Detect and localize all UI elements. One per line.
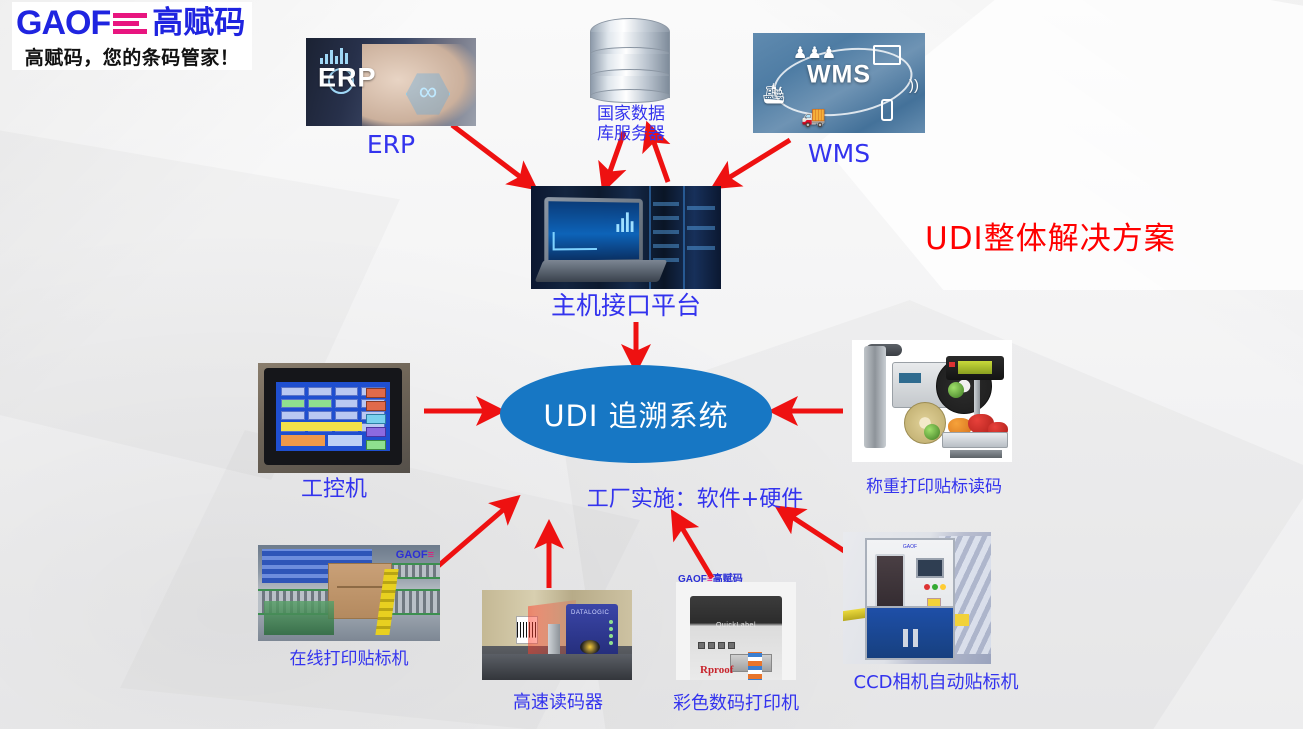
wms-phone-icon xyxy=(881,99,893,121)
weigh-knob-2 xyxy=(924,424,940,440)
printer-sub-brand: Rproof xyxy=(700,664,733,676)
company-logo: GAOF 高赋码 高赋码，您的条码管家！ xyxy=(12,2,252,70)
color-printer-image: QuickLabel Rproof xyxy=(676,582,796,680)
node-label-weigh-labeler: 称重打印贴标读码 xyxy=(838,478,1030,498)
factory-implementation-note: 工厂实施：软件+硬件 xyxy=(520,487,870,512)
hmi-side-buttons xyxy=(366,388,386,450)
weigh-scale-plate xyxy=(942,432,1008,448)
ccd-product-tag xyxy=(955,614,969,626)
weigh-scale-display xyxy=(946,356,1004,380)
color-printer-block: GAOF≡高赋码 QuickLabel Rproof xyxy=(676,570,796,680)
blade-row-3 xyxy=(653,230,679,234)
node-label-ccd-labeler: CCD相机自动贴标机 xyxy=(836,673,1036,694)
udi-trace-system-label: UDI 追溯系统 xyxy=(543,393,728,435)
hmi-info-strip xyxy=(328,435,362,446)
node-label-erp: ERP xyxy=(306,131,476,160)
server-rack-divider-2 xyxy=(683,186,685,289)
blade-row-2 xyxy=(653,216,679,220)
gaof-watermark: GAOF≡ xyxy=(396,549,434,561)
host-platform-image xyxy=(531,186,721,289)
slide-canvas: GAOF 高赋码 高赋码，您的条码管家！ UDI整体解决方案 xyxy=(0,0,1303,729)
barcode-reader-image: DATALOGIC xyxy=(482,590,632,680)
udi-trace-system-node[interactable]: UDI 追溯系统 xyxy=(500,365,772,463)
wms-image-caption: WMS xyxy=(753,61,925,90)
weigh-display-key xyxy=(949,362,955,367)
arrow-online-to-center xyxy=(437,504,510,567)
laptop-chart-bars xyxy=(616,210,633,232)
logo-wordmark: GAOF xyxy=(16,6,110,40)
barcode-icon xyxy=(113,13,147,34)
db-rim-3 xyxy=(590,89,670,103)
node-label-online-labeler: 在线打印贴标机 xyxy=(248,650,450,670)
erp-image: ERP xyxy=(306,38,476,126)
wms-image: ♟♟♟ 🛳 🚚 )) WMS xyxy=(753,33,925,133)
hmi-bezel xyxy=(264,368,402,465)
node-label-high-speed-reader: 高速读码器 xyxy=(478,693,638,714)
machine-housing xyxy=(264,601,334,635)
ccd-cabinet: GAOF xyxy=(865,538,955,660)
hmi-status-bar xyxy=(281,422,362,431)
reader-status-leds xyxy=(609,620,613,645)
reader-unit: DATALOGIC xyxy=(566,604,618,660)
wms-truck-icon: 🚚 xyxy=(801,104,826,129)
node-label-color-printer: 彩色数码打印机 xyxy=(660,694,812,715)
reader-lens xyxy=(580,640,600,654)
weigh-label-reel-secondary xyxy=(904,402,946,444)
node-label-wms: WMS xyxy=(753,140,925,169)
node-label-industrial-pc: 工控机 xyxy=(258,477,410,502)
blade-row-1 xyxy=(653,202,679,206)
blade-row-7 xyxy=(687,226,715,230)
reader-brand-label: DATALOGIC xyxy=(571,610,609,616)
logo-tagline: 高赋码，您的条码管家！ xyxy=(16,43,248,70)
industrial-pc-image xyxy=(258,363,410,473)
ccd-base-cabinet xyxy=(867,606,953,658)
laptop-chart-wave xyxy=(553,232,597,250)
blade-row-4 xyxy=(653,244,679,248)
ccd-brand-label: GAOF xyxy=(867,544,953,550)
erp-chart-icon xyxy=(320,46,348,64)
laptop-screen xyxy=(548,201,639,261)
page-title: UDI整体解决方案 xyxy=(925,213,1176,258)
erp-image-caption: ERP xyxy=(318,63,377,94)
ccd-control-buttons xyxy=(924,584,946,590)
printer-brand-label: QuickLabel xyxy=(690,622,782,629)
weigh-head-display xyxy=(899,373,921,383)
online-labeler-image: GAOF≡ xyxy=(258,545,440,641)
node-label-database: 国家数据 库服务器 xyxy=(576,105,686,144)
logo-primary-row: GAOF 高赋码 xyxy=(16,4,248,42)
laptop-lid xyxy=(544,197,643,265)
weigh-labeler-image xyxy=(852,340,1012,462)
logo-wordmark-cn: 高赋码 xyxy=(152,8,245,39)
hmi-screen xyxy=(276,382,390,451)
node-label-host-platform: 主机接口平台 xyxy=(511,292,741,321)
laptop-keyboard-base xyxy=(535,260,668,282)
weigh-display-screen xyxy=(958,361,992,374)
printed-label-strip xyxy=(748,652,762,680)
hmi-action-button xyxy=(281,435,325,446)
ccd-hmi-screen xyxy=(916,558,944,578)
printer-body: QuickLabel Rproof xyxy=(690,596,782,680)
reader-conveyor-belt xyxy=(482,654,632,680)
weigh-column xyxy=(864,346,886,448)
printer-control-panel xyxy=(698,642,735,649)
blade-row-8 xyxy=(687,246,715,250)
weigh-scale-base xyxy=(950,450,1002,458)
database-cylinder-icon xyxy=(582,6,678,106)
ccd-labeler-image: GAOF xyxy=(843,532,991,664)
weigh-knob-1 xyxy=(948,382,964,398)
blade-row-6 xyxy=(687,206,715,210)
